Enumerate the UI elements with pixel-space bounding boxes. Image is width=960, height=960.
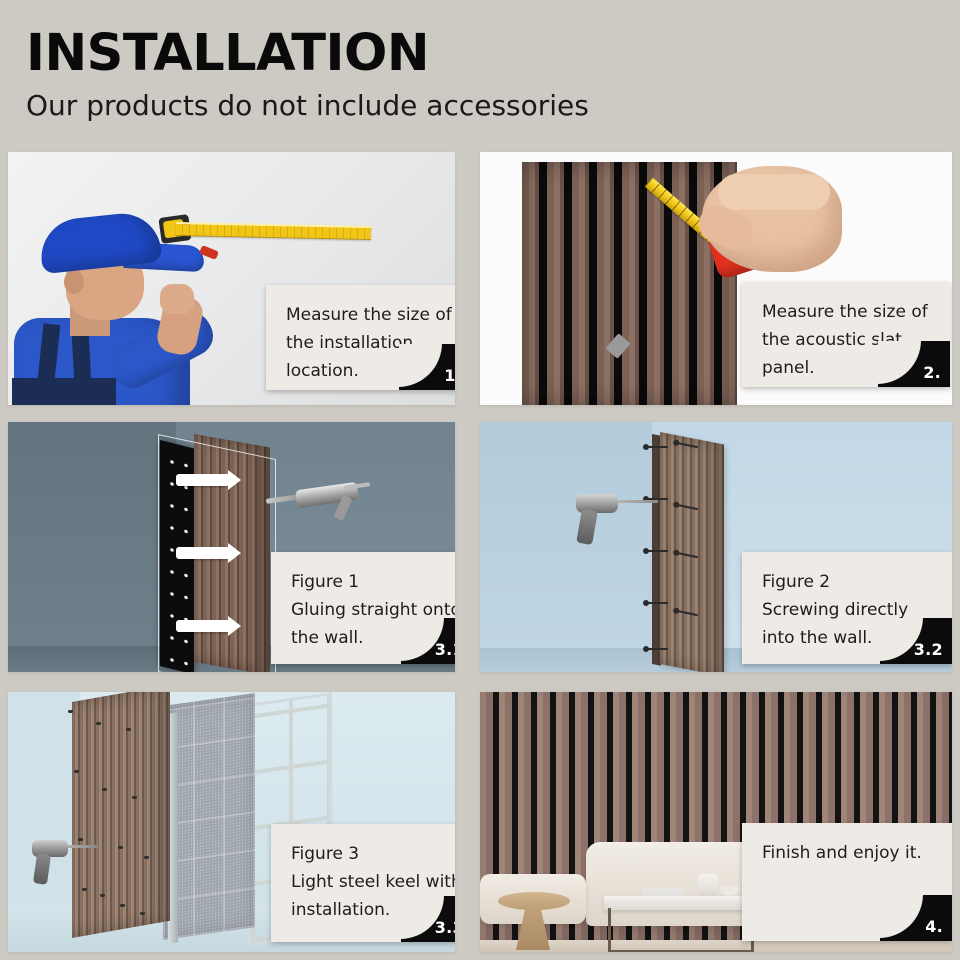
book-on-table xyxy=(642,888,684,896)
screw-icon xyxy=(100,894,105,897)
screw-icon xyxy=(96,722,101,725)
coffee-table-legs xyxy=(608,908,754,952)
screw-icon xyxy=(82,888,87,891)
screw-icon xyxy=(102,788,107,791)
step-panel-2: Measure the size of the acoustic slat pa… xyxy=(480,152,952,405)
screw-icon xyxy=(118,846,123,849)
caption-box-3: Figure 1 Gluing straight onto the wall. … xyxy=(271,552,455,664)
worker-overalls xyxy=(12,378,116,405)
step-badge-number-3: 3.1 xyxy=(435,640,455,659)
wall-left xyxy=(8,422,176,672)
drill-bit xyxy=(616,500,658,503)
screw-icon xyxy=(646,602,668,604)
caption-text-6: Finish and enjoy it. xyxy=(762,839,942,867)
screw-icon xyxy=(646,550,668,552)
step-panel-1: Measure the size of the installation loc… xyxy=(8,152,455,405)
step-panel-6: Finish and enjoy it. 4. xyxy=(480,692,952,952)
screw-icon xyxy=(144,856,149,859)
step-badge-number-1: 1. xyxy=(444,366,455,385)
wall-left xyxy=(480,422,652,672)
step-badge-4: 3.2 xyxy=(880,618,952,664)
step-badge-number-5: 3.3 xyxy=(435,918,455,937)
step-badge-6: 4. xyxy=(880,895,952,941)
step-badge-2: 2. xyxy=(878,341,950,387)
worker-ear xyxy=(64,270,84,294)
step-badge-5: 3.3 xyxy=(401,896,455,942)
screw-icon xyxy=(120,904,125,907)
step-panel-5: Figure 3 Light steel keel with installat… xyxy=(8,692,455,952)
caption-box-4: Figure 2 Screwing directly into the wall… xyxy=(742,552,952,664)
screw-icon xyxy=(78,838,83,841)
page-title: INSTALLATION xyxy=(26,26,926,82)
page-subtitle: Our products do not include accessories xyxy=(26,88,926,124)
drill-bit xyxy=(66,845,98,848)
screw-icon xyxy=(646,648,668,650)
acoustic-slat-panel xyxy=(72,692,170,938)
acoustic-slat-panel xyxy=(522,162,737,405)
step-panel-4: Figure 2 Screwing directly into the wall… xyxy=(480,422,952,672)
caption-box-2: Measure the size of the acoustic slat pa… xyxy=(742,282,950,387)
side-table-top xyxy=(498,892,570,910)
page-header: INSTALLATION Our products do not include… xyxy=(26,26,926,124)
screw-icon xyxy=(126,728,131,731)
hand-knuckles xyxy=(718,174,830,210)
caption-box-5: Figure 3 Light steel keel with installat… xyxy=(271,824,455,942)
vase xyxy=(698,874,718,896)
step-badge-number-2: 2. xyxy=(923,363,941,382)
worker-hand xyxy=(160,284,194,314)
screw-icon xyxy=(140,912,145,915)
step-badge-number-6: 4. xyxy=(925,917,943,936)
acoustic-slat-panel xyxy=(660,432,724,672)
screw-icon xyxy=(74,770,79,773)
screw-icon xyxy=(132,796,137,799)
caption-box-6: Finish and enjoy it. 4. xyxy=(742,823,952,941)
caption-box-1: Measure the size of the installation loc… xyxy=(266,285,455,390)
step-badge-number-4: 3.2 xyxy=(914,640,943,659)
step-badge-3: 3.1 xyxy=(401,618,455,664)
step-badge-1: 1. xyxy=(399,344,455,390)
install-arrow-middle xyxy=(176,547,230,559)
install-arrow-top xyxy=(176,474,230,486)
installation-steps-grid: Measure the size of the installation loc… xyxy=(8,152,952,952)
install-arrow-bottom xyxy=(176,620,230,632)
screw-icon xyxy=(68,710,73,713)
screw-icon xyxy=(646,446,668,448)
step-panel-3: Figure 1 Gluing straight onto the wall. … xyxy=(8,422,455,672)
